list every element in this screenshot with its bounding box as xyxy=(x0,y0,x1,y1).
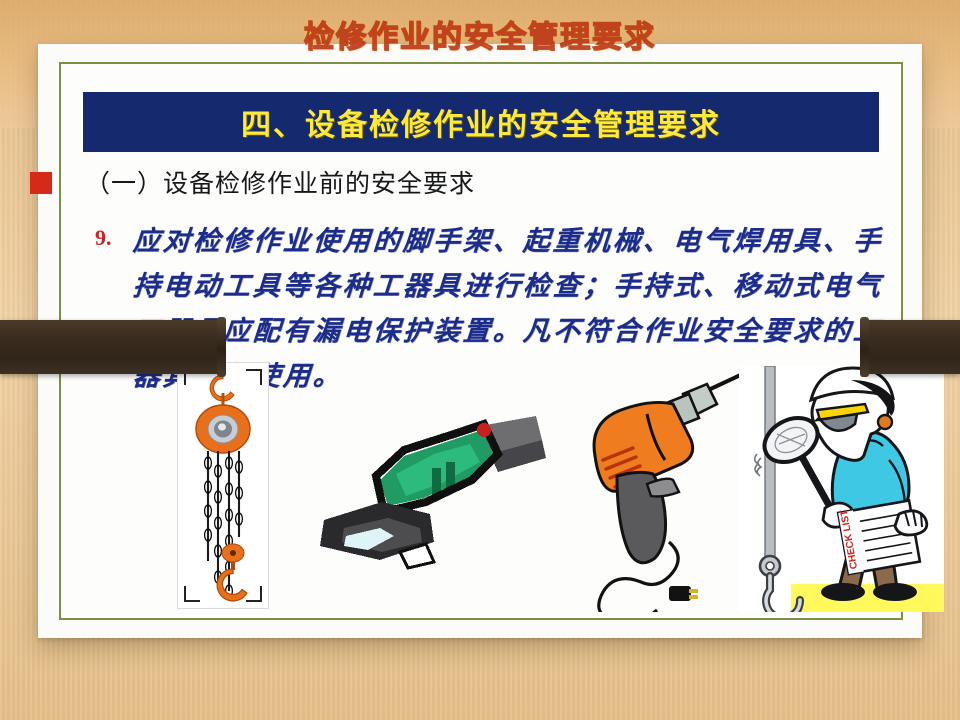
corner-mark-icon xyxy=(184,586,200,602)
subheading-row: （一）设备检修作业前的安全要求 xyxy=(85,164,475,200)
body-line: 持电动工具等各种工器具进行检查；手持式、移动式电气 xyxy=(131,264,884,309)
bullet-square-marker xyxy=(30,172,52,194)
figure-angle-grinder xyxy=(284,410,549,595)
slide-banner: 四、设备检修作业的安全管理要求 xyxy=(83,92,879,152)
banner-title: 四、设备检修作业的安全管理要求 xyxy=(241,100,721,144)
chain-hoist-icon xyxy=(178,363,268,608)
body-line: 应对检修作业使用的脚手架、起重机械、电气焊用具、手 xyxy=(131,219,884,264)
corner-mark-icon xyxy=(246,586,262,602)
figure-electric-drill xyxy=(561,364,751,612)
body-line: 工器具应配有漏电保护装置。凡不符合作业安全要求的工 xyxy=(131,309,884,354)
figure-inspector-cartoon: CHECK LIST xyxy=(739,366,944,612)
corner-mark-icon xyxy=(246,369,262,385)
strap-cap xyxy=(860,317,869,377)
figure-chain-hoist xyxy=(177,362,269,609)
angle-grinder-icon xyxy=(284,410,549,595)
decorative-strap-left xyxy=(0,320,222,374)
strap-cap xyxy=(217,317,226,377)
subheading-text: （一）设备检修作业前的安全要求 xyxy=(85,164,475,200)
item-number: 9. xyxy=(95,225,112,251)
decorative-strap-right xyxy=(864,320,960,374)
picture-strip: CHECK LIST xyxy=(79,362,891,612)
inspector-cartoon-icon: CHECK LIST xyxy=(739,366,944,612)
electric-drill-icon xyxy=(561,364,751,612)
